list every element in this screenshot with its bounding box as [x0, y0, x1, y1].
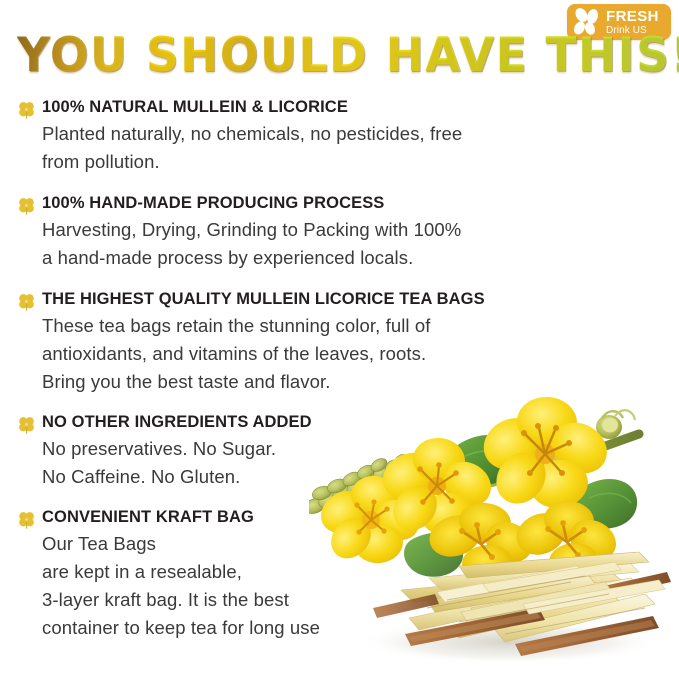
feature-title: THE HIGHEST QUALITY MULLEIN LICORICE TEA… — [42, 289, 679, 310]
feature-body-line: antioxidants, and vitamins of the leaves… — [42, 340, 679, 368]
four-leaf-clover-icon — [17, 196, 36, 215]
feature-body-line: Harvesting, Drying, Grinding to Packing … — [42, 216, 679, 244]
feature-body: Harvesting, Drying, Grinding to Packing … — [42, 216, 679, 272]
feature-body-line: Our Tea Bags — [42, 530, 679, 558]
promo-infographic: FRESH Drink US YOU SHOULD HAVE THIS! — [0, 0, 679, 679]
feature-body-line: These tea bags retain the stunning color… — [42, 312, 679, 340]
feature-body-line: No preservatives. No Sugar. — [42, 435, 679, 463]
page-title: YOU SHOULD HAVE THIS! — [17, 29, 679, 83]
feature-body-line: are kept in a resealable, — [42, 558, 679, 586]
feature-body-line: a hand-made process by experienced local… — [42, 244, 679, 272]
list-item: THE HIGHEST QUALITY MULLEIN LICORICE TEA… — [0, 289, 679, 396]
feature-body: These tea bags retain the stunning color… — [42, 312, 679, 396]
feature-body: Planted naturally, no chemicals, no pest… — [42, 120, 679, 176]
four-leaf-clover-icon — [17, 292, 36, 311]
feature-body-line: from pollution. — [42, 148, 679, 176]
feature-title: 100% NATURAL MULLEIN & LICORICE — [42, 97, 679, 118]
feature-list: 100% NATURAL MULLEIN & LICORICE Planted … — [0, 97, 679, 642]
list-item: CONVENIENT KRAFT BAG Our Tea Bags are ke… — [0, 507, 679, 642]
feature-title: CONVENIENT KRAFT BAG — [42, 507, 679, 528]
feature-body-line: Bring you the best taste and flavor. — [42, 368, 679, 396]
feature-body-line: Planted naturally, no chemicals, no pest… — [42, 120, 679, 148]
four-leaf-clover-icon — [17, 510, 36, 529]
list-item: 100% NATURAL MULLEIN & LICORICE Planted … — [0, 97, 679, 176]
feature-body-line: container to keep tea for long use — [42, 614, 679, 642]
feature-body: Our Tea Bags are kept in a resealable, 3… — [42, 530, 679, 642]
feature-title: NO OTHER INGREDIENTS ADDED — [42, 412, 679, 433]
four-leaf-clover-icon — [17, 415, 36, 434]
brand-name-line1: FRESH — [606, 9, 659, 24]
feature-body-line: No Caffeine. No Gluten. — [42, 463, 679, 491]
feature-title: 100% HAND-MADE PRODUCING PROCESS — [42, 193, 679, 214]
feature-body: No preservatives. No Sugar. No Caffeine.… — [42, 435, 679, 491]
list-item: NO OTHER INGREDIENTS ADDED No preservati… — [0, 412, 679, 491]
list-item: 100% HAND-MADE PRODUCING PROCESS Harvest… — [0, 193, 679, 272]
feature-body-line: 3-layer kraft bag. It is the best — [42, 586, 679, 614]
four-leaf-clover-icon — [17, 100, 36, 119]
